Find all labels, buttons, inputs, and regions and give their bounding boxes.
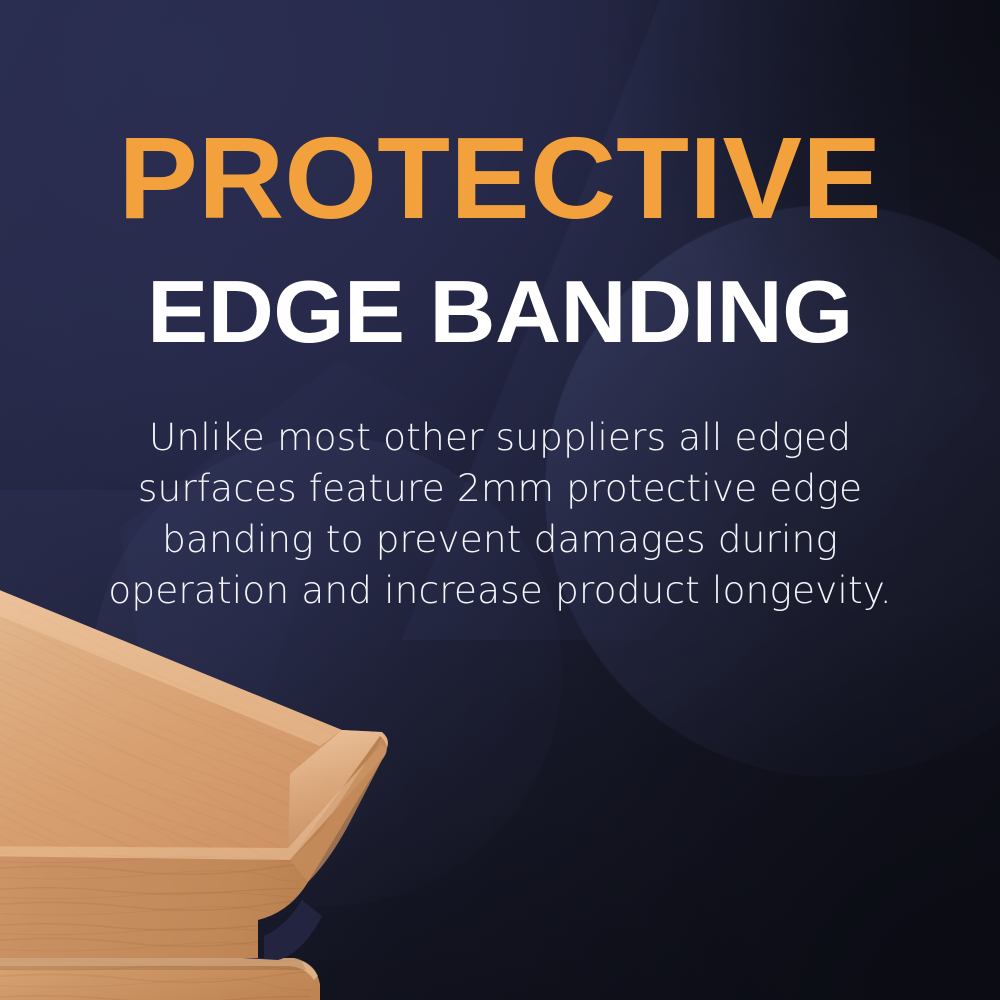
body-line-2: surfaces feature 2mm protective edge bbox=[100, 463, 900, 514]
body-line-3: banding to prevent damages during bbox=[100, 514, 900, 565]
promo-graphic-canvas: PROTECTIVE EDGE BANDING Unlike most othe… bbox=[0, 0, 1000, 1000]
headline-secondary: EDGE BANDING bbox=[0, 268, 1000, 356]
headline-primary: PROTECTIVE bbox=[0, 120, 1000, 236]
product-photo-wood-panel bbox=[0, 560, 410, 1000]
wood-second-panel bbox=[0, 940, 410, 1000]
wood-notch-shadow bbox=[242, 900, 322, 960]
wood-lower-panel-illustration bbox=[0, 560, 410, 1000]
body-line-1: Unlike most other suppliers all edged bbox=[100, 412, 900, 463]
